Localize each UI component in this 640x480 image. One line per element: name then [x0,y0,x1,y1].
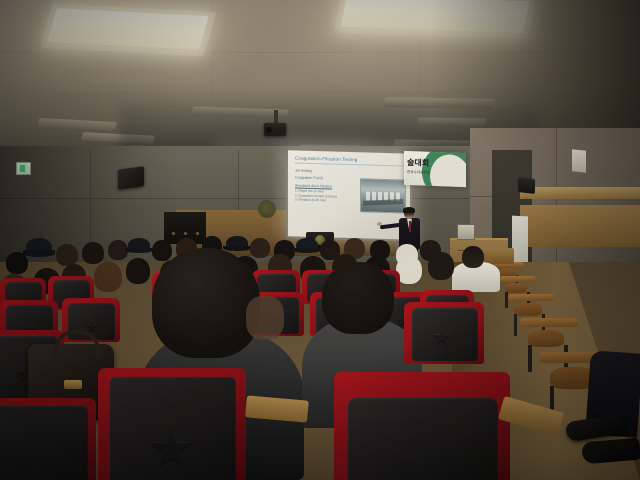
auditorium-seat[interactable] [334,372,510,480]
audience-head [56,244,78,266]
seat-back [0,406,88,480]
equipment-knob [184,232,187,235]
seat-back [412,308,478,361]
foreground-person-ear-side [246,296,284,340]
audience-cap [128,238,150,252]
presenter-hand [377,222,382,226]
right-wall-speaker-icon [518,177,535,194]
audience-cap [226,236,248,250]
wall-panel-box [572,149,586,172]
handbag-buckle-icon [64,380,82,389]
slide-bullet: Jar testing [295,168,404,175]
chair-seat [528,330,564,347]
audience-head [94,262,122,292]
chair-tablet [508,294,554,301]
chair-seat [505,283,527,293]
seat-back [110,377,236,480]
auditorium-seat[interactable]: ★ [404,302,484,364]
presenter-tie [409,221,412,232]
chair-tablet [500,276,536,282]
lab-bench [363,199,403,206]
exit-sign-glow [20,165,25,172]
audience-cap [296,238,318,252]
chair-tablet [520,318,578,327]
slide-title: Coagulation-Filtration Testing [295,155,404,166]
left-wall-speaker-icon [118,166,144,190]
wall-seam [238,150,239,210]
podium-monitor-icon [457,224,475,240]
right-wood-rail [520,187,640,199]
wall-wreath-decoration [258,200,276,218]
projector-lens-icon [266,127,272,133]
auditorium-seat[interactable] [0,398,96,480]
chair-seat [514,303,542,316]
chair-leg [528,345,532,372]
audience-head [152,240,172,261]
equipment-knob [196,232,199,235]
equipment-knob [172,232,175,235]
auditorium-seat[interactable]: ★ [98,368,246,480]
seat-back [348,398,498,480]
audience-head [82,242,104,264]
wall-seam [556,128,557,278]
projector-mount [274,110,278,124]
audience-head [428,252,454,280]
chair-seat [498,268,516,276]
conference-banner: 술대회 한국수자원학회 [404,151,466,187]
audience-head [462,246,484,268]
foreground-person-head [152,248,260,358]
audience-cap [26,238,52,255]
presenter-hair [403,207,415,213]
exit-sign-icon [16,162,31,175]
jar-icon [366,192,370,201]
right-wood-paneling [520,205,640,247]
chair-leg [514,314,517,336]
audience-head [322,262,394,334]
audience-head [250,238,270,258]
handbag-handle [54,330,100,358]
banner-subtitle: 한국수자원학회 [407,170,430,176]
lecture-hall-photo: Coagulation-Filtration Testing Jar testi… [0,0,640,480]
banner-title: 술대회 [407,157,429,169]
audience-head [126,258,150,284]
